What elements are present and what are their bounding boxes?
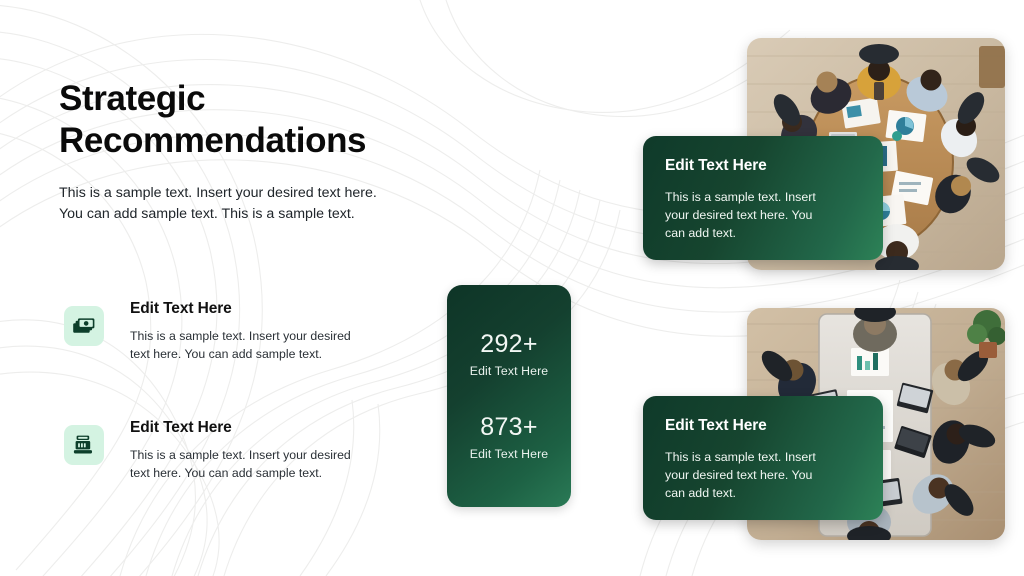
stat-value: 292+ — [470, 331, 548, 357]
page-title: Strategic Recommendations — [59, 78, 459, 161]
overlay-card-body: This is a sample text. Insert your desir… — [665, 188, 861, 243]
overlay-card-title: Edit Text Here — [665, 417, 861, 435]
stat-label: Edit Text Here — [470, 447, 548, 461]
feature-item-2[interactable]: Edit Text Here This is a sample text. In… — [64, 419, 464, 483]
stat-block-1: 292+ Edit Text Here — [470, 331, 548, 378]
stat-block-2: 873+ Edit Text Here — [470, 414, 548, 461]
feature-body: This is a sample text. Insert your desir… — [130, 327, 351, 364]
feature-list: Edit Text Here This is a sample text. In… — [64, 300, 464, 538]
overlay-card-body: This is a sample text. Insert your desir… — [665, 448, 861, 503]
stat-label: Edit Text Here — [470, 364, 548, 378]
feature-text-2: Edit Text Here This is a sample text. In… — [130, 419, 351, 483]
statistics-card: 292+ Edit Text Here 873+ Edit Text Here — [447, 285, 571, 507]
header-block: Strategic Recommendations This is a samp… — [59, 78, 459, 224]
overlay-card-title: Edit Text Here — [665, 157, 861, 175]
stat-value: 873+ — [470, 414, 548, 440]
feature-text-1: Edit Text Here This is a sample text. In… — [130, 300, 351, 364]
feature-item-1[interactable]: Edit Text Here This is a sample text. In… — [64, 300, 464, 364]
overlay-card-top: Edit Text Here This is a sample text. In… — [643, 136, 883, 260]
banknotes-icon — [64, 306, 104, 346]
feature-title: Edit Text Here — [130, 419, 351, 437]
overlay-card-bottom: Edit Text Here This is a sample text. In… — [643, 396, 883, 520]
slide-canvas: Strategic Recommendations This is a samp… — [0, 0, 1024, 576]
cash-register-icon — [64, 425, 104, 465]
intro-paragraph: This is a sample text. Insert your desir… — [59, 183, 459, 224]
feature-body: This is a sample text. Insert your desir… — [130, 446, 351, 483]
feature-title: Edit Text Here — [130, 300, 351, 318]
